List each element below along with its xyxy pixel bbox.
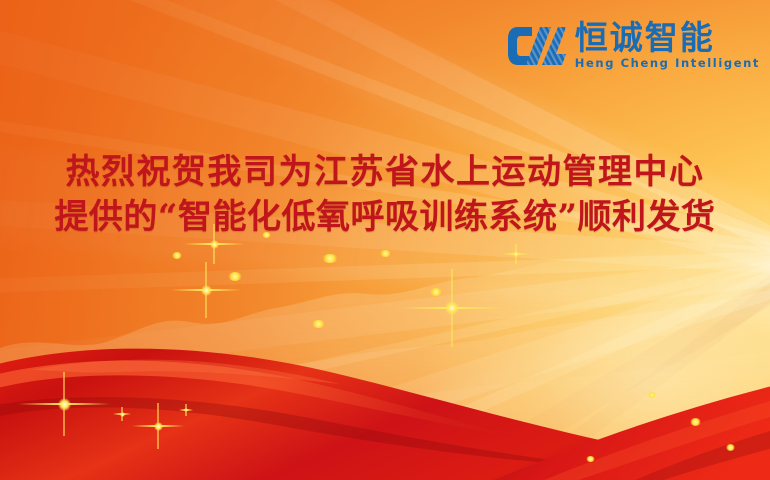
glow-dot xyxy=(380,250,391,257)
glow-dot xyxy=(430,288,442,296)
hengcheng-ch-monogram-icon xyxy=(504,20,566,72)
glow-dot xyxy=(726,444,735,451)
glow-dot xyxy=(690,418,701,426)
headline-line-1: 热烈祝贺我司为江苏省水上运动管理中心 xyxy=(18,150,752,195)
glow-dot xyxy=(172,252,182,259)
headline-block: 热烈祝贺我司为江苏省水上运动管理中心 提供的“智能化低氧呼吸训练系统”顺利发货 xyxy=(0,150,770,240)
glow-dot xyxy=(228,272,242,281)
company-logo[interactable]: 恒诚智能 Heng Cheng Intelligent xyxy=(504,20,760,72)
company-name-en: Heng Cheng Intelligent xyxy=(575,57,760,71)
glow-dot xyxy=(322,254,338,263)
headline-line-2: 提供的“智能化低氧呼吸训练系统”顺利发货 xyxy=(18,195,752,240)
glow-dot xyxy=(586,456,595,462)
glow-dot xyxy=(312,320,325,328)
company-name-cn: 恒诚智能 xyxy=(575,21,715,55)
announcement-banner: 恒诚智能 Heng Cheng Intelligent 热烈祝贺我司为江苏省水上… xyxy=(0,0,770,480)
logo-wordmark: 恒诚智能 Heng Cheng Intelligent xyxy=(575,21,760,71)
glow-dot xyxy=(648,392,656,398)
